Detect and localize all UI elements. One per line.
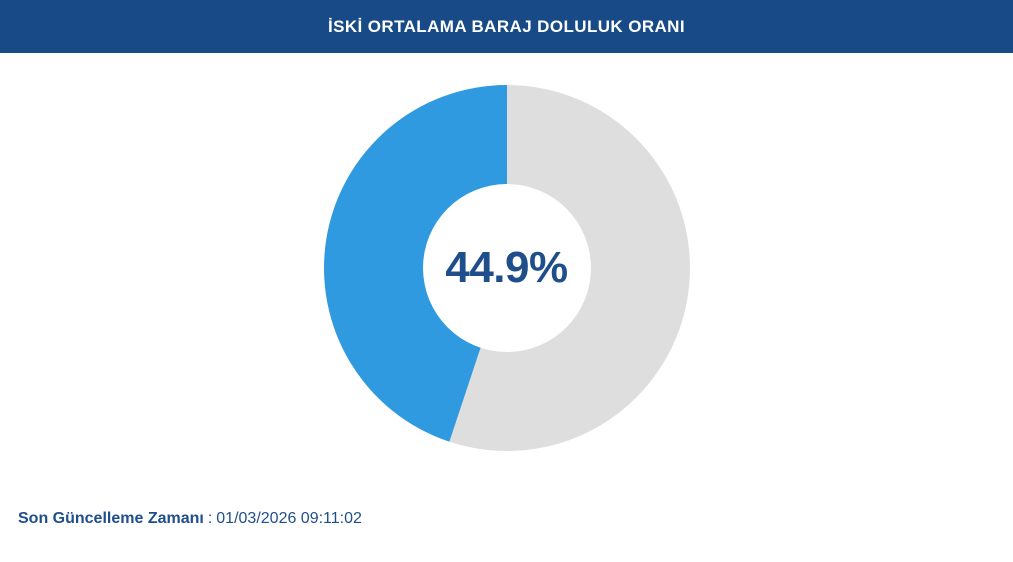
last-update-label: Son Güncelleme Zamanı xyxy=(18,510,204,528)
donut-chart-svg xyxy=(324,85,690,451)
page-title: İSKİ ORTALAMA BARAJ DOLULUK ORANI xyxy=(328,17,685,37)
last-update-value: 01/03/2026 09:11:02 xyxy=(216,510,362,528)
chart-area: 44.9% xyxy=(0,53,1013,473)
last-update-separator: : xyxy=(208,510,212,528)
page-root: İSKİ ORTALAMA BARAJ DOLULUK ORANI 44.9% … xyxy=(0,0,1013,562)
last-update-row: Son Güncelleme Zamanı : 01/03/2026 09:11… xyxy=(18,510,362,528)
donut-chart: 44.9% xyxy=(324,85,690,451)
header-bar: İSKİ ORTALAMA BARAJ DOLULUK ORANI xyxy=(0,0,1013,53)
donut-hole xyxy=(423,184,591,352)
